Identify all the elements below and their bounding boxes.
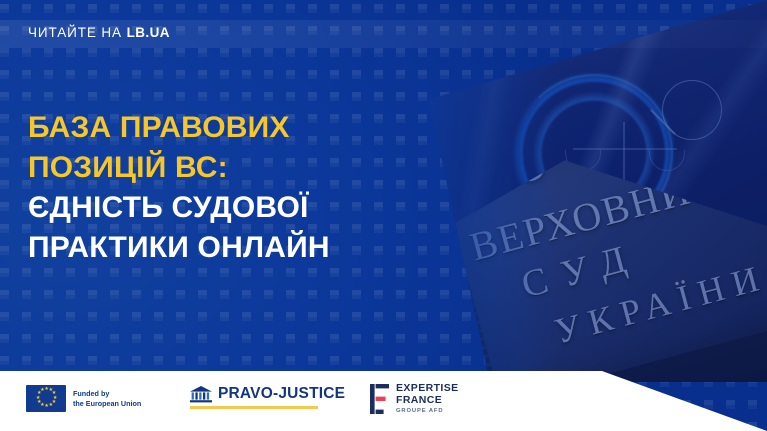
expertise-france-logo: EXPERTISE FRANCE GROUPE AFD bbox=[370, 383, 459, 414]
pravo-justice-logo: PRAVO-JUSTICE bbox=[190, 385, 345, 409]
kicker-brand: LB.UA bbox=[127, 25, 170, 40]
expertise-france-mark-icon bbox=[370, 384, 389, 414]
headline-line-3: ЄДНІСТЬ СУДОВОЇ bbox=[28, 188, 330, 228]
pravo-justice-label: PRAVO-JUSTICE bbox=[218, 385, 345, 403]
headline-line-4: ПРАКТИКИ ОНЛАЙН bbox=[28, 228, 330, 268]
eu-line-1: Funded by bbox=[73, 389, 141, 398]
ef-line-3: GROUPE AFD bbox=[396, 409, 459, 415]
eu-flag-icon: ★★★★★★★★★★★★ bbox=[26, 385, 66, 412]
expertise-france-text: EXPERTISE FRANCE GROUPE AFD bbox=[396, 383, 459, 414]
courthouse-icon bbox=[190, 386, 212, 403]
headline-line-1: БАЗА ПРАВОВИХ bbox=[28, 108, 330, 148]
promo-poster: Շ ВЕРХОВНИЙ СУД УКРАЇНИ ЧИТАЙТЕ НА LB.UA… bbox=[0, 0, 767, 431]
ef-line-2: FRANCE bbox=[396, 395, 459, 407]
eu-stars: ★★★★★★★★★★★★ bbox=[26, 385, 66, 412]
eu-funding-logo: ★★★★★★★★★★★★ Funded by the European Unio… bbox=[26, 385, 141, 412]
pravo-justice-row: PRAVO-JUSTICE bbox=[190, 385, 345, 403]
eu-line-2: the European Union bbox=[73, 399, 141, 408]
pravo-justice-underline bbox=[190, 406, 318, 409]
headline-line-2: ПОЗИЦІЙ ВС: bbox=[28, 148, 330, 188]
kicker-text: ЧИТАЙТЕ НА LB.UA bbox=[28, 25, 170, 40]
kicker-prefix: ЧИТАЙТЕ НА bbox=[28, 25, 127, 40]
ef-line-1: EXPERTISE bbox=[396, 383, 459, 395]
page-title: БАЗА ПРАВОВИХ ПОЗИЦІЙ ВС: ЄДНІСТЬ СУДОВО… bbox=[28, 108, 330, 268]
eu-funding-text: Funded by the European Union bbox=[73, 389, 141, 407]
sponsor-logos: ★★★★★★★★★★★★ Funded by the European Unio… bbox=[0, 371, 602, 431]
